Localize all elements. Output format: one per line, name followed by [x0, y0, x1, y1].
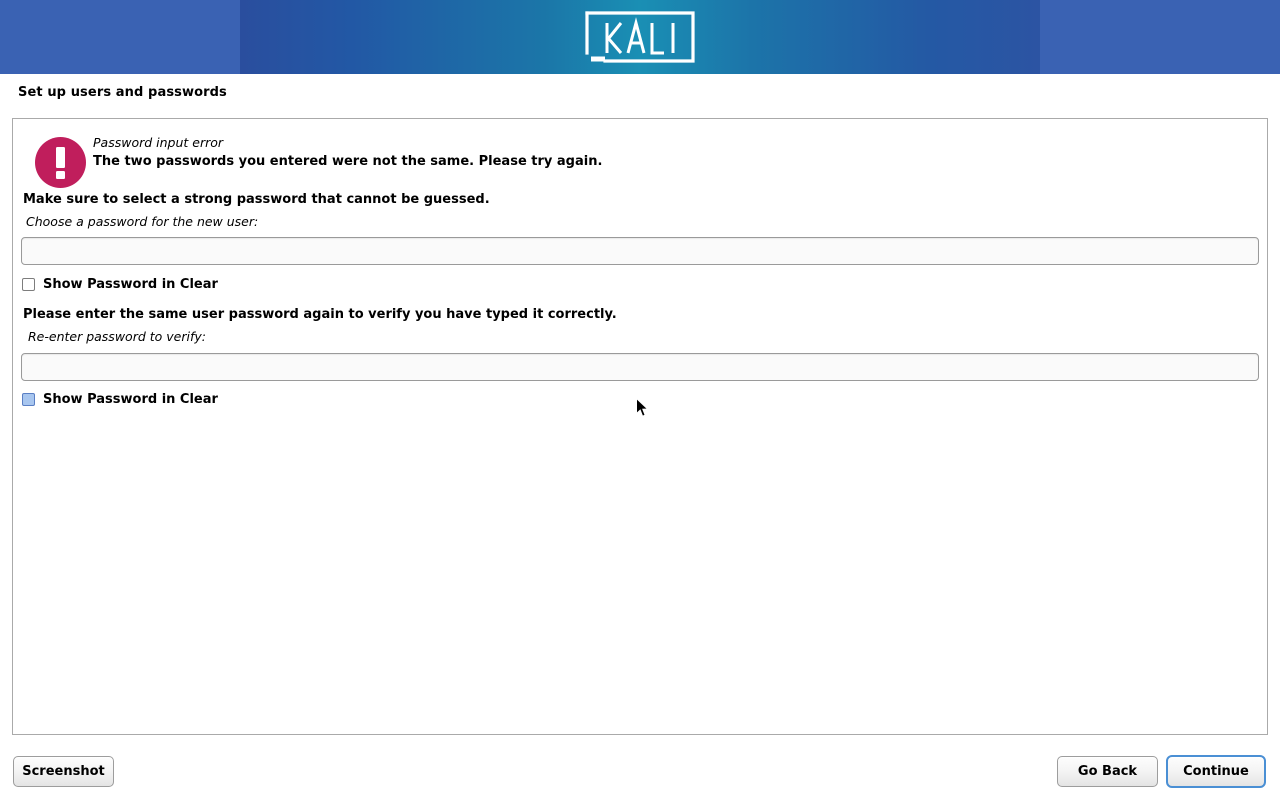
page-title: Set up users and passwords: [18, 85, 227, 100]
go-back-button[interactable]: Go Back: [1057, 756, 1158, 787]
kali-logo: [583, 9, 697, 65]
show-password-1-label: Show Password in Clear: [43, 277, 218, 292]
show-password-1-checkbox[interactable]: [22, 278, 35, 291]
error-exclamation-icon: [35, 137, 86, 188]
show-password-1-row[interactable]: Show Password in Clear: [22, 275, 218, 293]
verify-field-label: Re-enter password to verify:: [28, 329, 206, 344]
verify-password-note: Please enter the same user password agai…: [23, 307, 617, 322]
error-message: The two passwords you entered were not t…: [93, 154, 602, 169]
password-field-label: Choose a password for the new user:: [26, 214, 258, 229]
show-password-2-label: Show Password in Clear: [43, 392, 218, 407]
show-password-2-checkbox[interactable]: [22, 393, 35, 406]
verify-password-input[interactable]: [21, 353, 1259, 381]
screenshot-button[interactable]: Screenshot: [13, 756, 114, 787]
error-banner: Password input error The two passwords y…: [24, 127, 1254, 187]
continue-button[interactable]: Continue: [1166, 755, 1266, 788]
strong-password-note: Make sure to select a strong password th…: [23, 192, 490, 207]
kali-header-banner: [0, 0, 1280, 74]
error-heading: Password input error: [93, 135, 223, 150]
password-input[interactable]: [21, 237, 1259, 265]
show-password-2-row[interactable]: Show Password in Clear: [22, 390, 218, 408]
installer-content-panel: Password input error The two passwords y…: [12, 118, 1268, 735]
installer-window: Set up users and passwords Password inpu…: [0, 0, 1280, 800]
